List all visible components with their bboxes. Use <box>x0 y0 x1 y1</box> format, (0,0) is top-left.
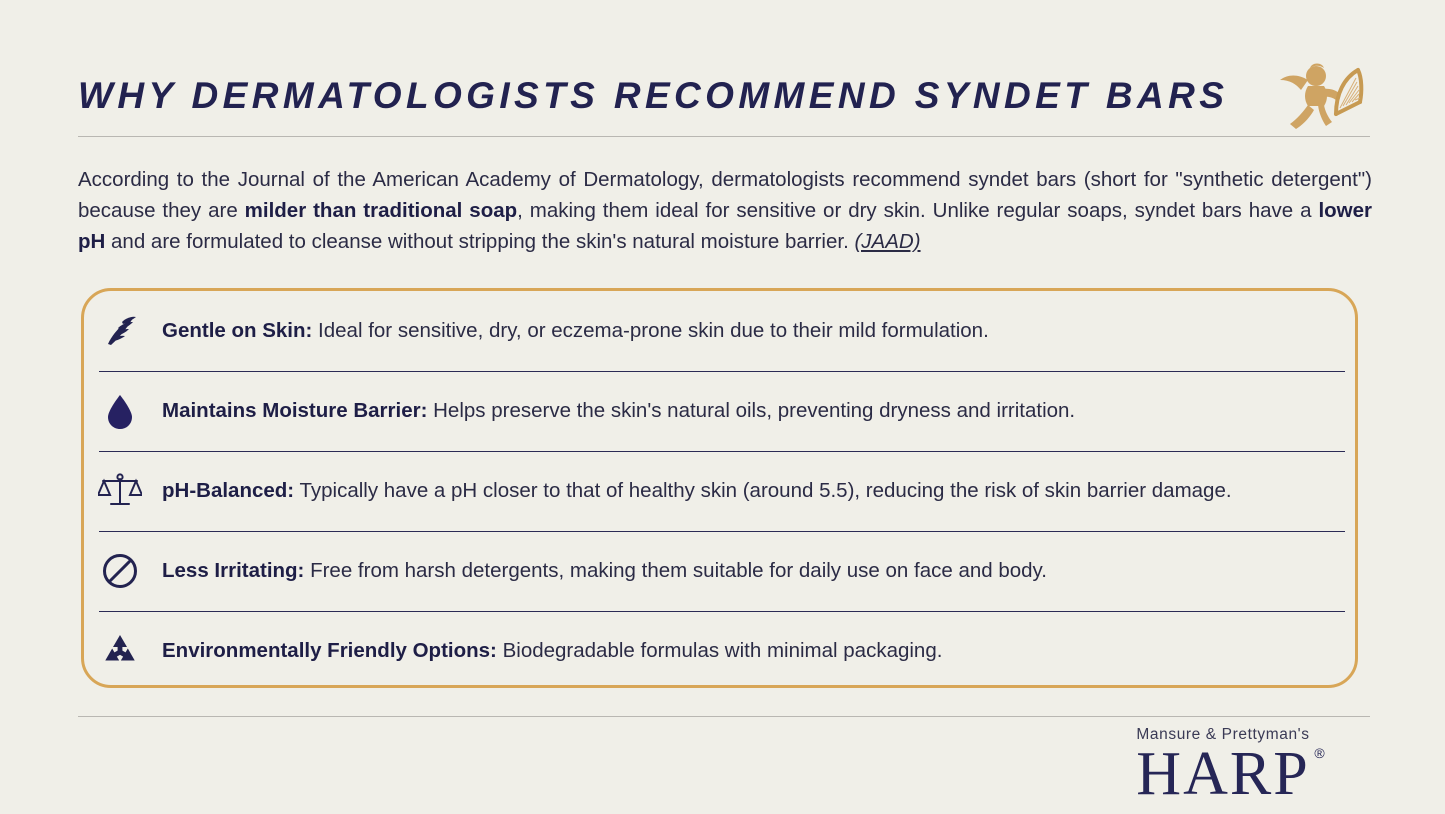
intro-paragraph: According to the Journal of the American… <box>78 164 1372 257</box>
list-item-description: Typically have a pH closer to that of he… <box>294 479 1231 502</box>
list-item: Less Irritating: Free from harsh deterge… <box>84 531 1355 611</box>
benefits-list: Gentle on Skin: Ideal for sensitive, dry… <box>84 291 1355 685</box>
source-link-jaad[interactable]: (JAAD) <box>854 230 920 253</box>
list-item-description: Biodegradable formulas with minimal pack… <box>497 639 943 662</box>
registered-trademark-icon: ® <box>1314 747 1326 760</box>
list-item-label: pH-Balanced: <box>162 479 294 502</box>
recycle-icon <box>98 629 142 673</box>
list-item-label: Less Irritating: <box>162 559 304 582</box>
list-item-text: Environmentally Friendly Options: Biodeg… <box>162 637 942 665</box>
brand-wordmark: HARP ® <box>1136 745 1309 804</box>
list-item-text: Less Irritating: Free from harsh deterge… <box>162 557 1047 585</box>
cherub-harp-icon <box>1270 56 1366 134</box>
list-item-description: Helps preserve the skin's natural oils, … <box>427 399 1075 422</box>
prohibition-icon <box>98 549 142 593</box>
balance-scales-icon <box>98 469 142 513</box>
list-item: Environmentally Friendly Options: Biodeg… <box>84 611 1355 691</box>
intro-emphasis-1: milder than traditional soap <box>245 199 518 222</box>
water-drop-icon <box>98 389 142 433</box>
infographic-page: WHY DERMATOLOGISTS RECOMMEND SYNDET BARS <box>0 0 1445 814</box>
list-item-text: Gentle on Skin: Ideal for sensitive, dry… <box>162 317 989 345</box>
list-item-text: Maintains Moisture Barrier: Helps preser… <box>162 397 1075 425</box>
list-item: Maintains Moisture Barrier: Helps preser… <box>84 371 1355 451</box>
footer-divider <box>78 716 1370 717</box>
header: WHY DERMATOLOGISTS RECOMMEND SYNDET BARS <box>78 58 1370 132</box>
brand-logo: Mansure & Prettyman's HARP ® <box>1073 726 1373 804</box>
leaf-icon <box>98 309 142 353</box>
list-item-text: pH-Balanced: Typically have a pH closer … <box>162 477 1232 505</box>
list-item-description: Ideal for sensitive, dry, or eczema-pron… <box>312 319 988 342</box>
page-title: WHY DERMATOLOGISTS RECOMMEND SYNDET BARS <box>78 77 1228 114</box>
intro-text-part3: and are formulated to cleanse without st… <box>105 230 854 253</box>
list-item-description: Free from harsh detergents, making them … <box>304 559 1047 582</box>
brand-name-text: HARP <box>1136 740 1309 808</box>
list-item-label: Environmentally Friendly Options: <box>162 639 497 662</box>
benefits-box: Gentle on Skin: Ideal for sensitive, dry… <box>81 288 1358 688</box>
intro-text-part2: , making them ideal for sensitive or dry… <box>517 199 1318 222</box>
list-item-label: Maintains Moisture Barrier: <box>162 399 427 422</box>
list-item: pH-Balanced: Typically have a pH closer … <box>84 451 1355 531</box>
list-item-label: Gentle on Skin: <box>162 319 312 342</box>
list-item: Gentle on Skin: Ideal for sensitive, dry… <box>84 291 1355 371</box>
header-divider <box>78 136 1370 137</box>
